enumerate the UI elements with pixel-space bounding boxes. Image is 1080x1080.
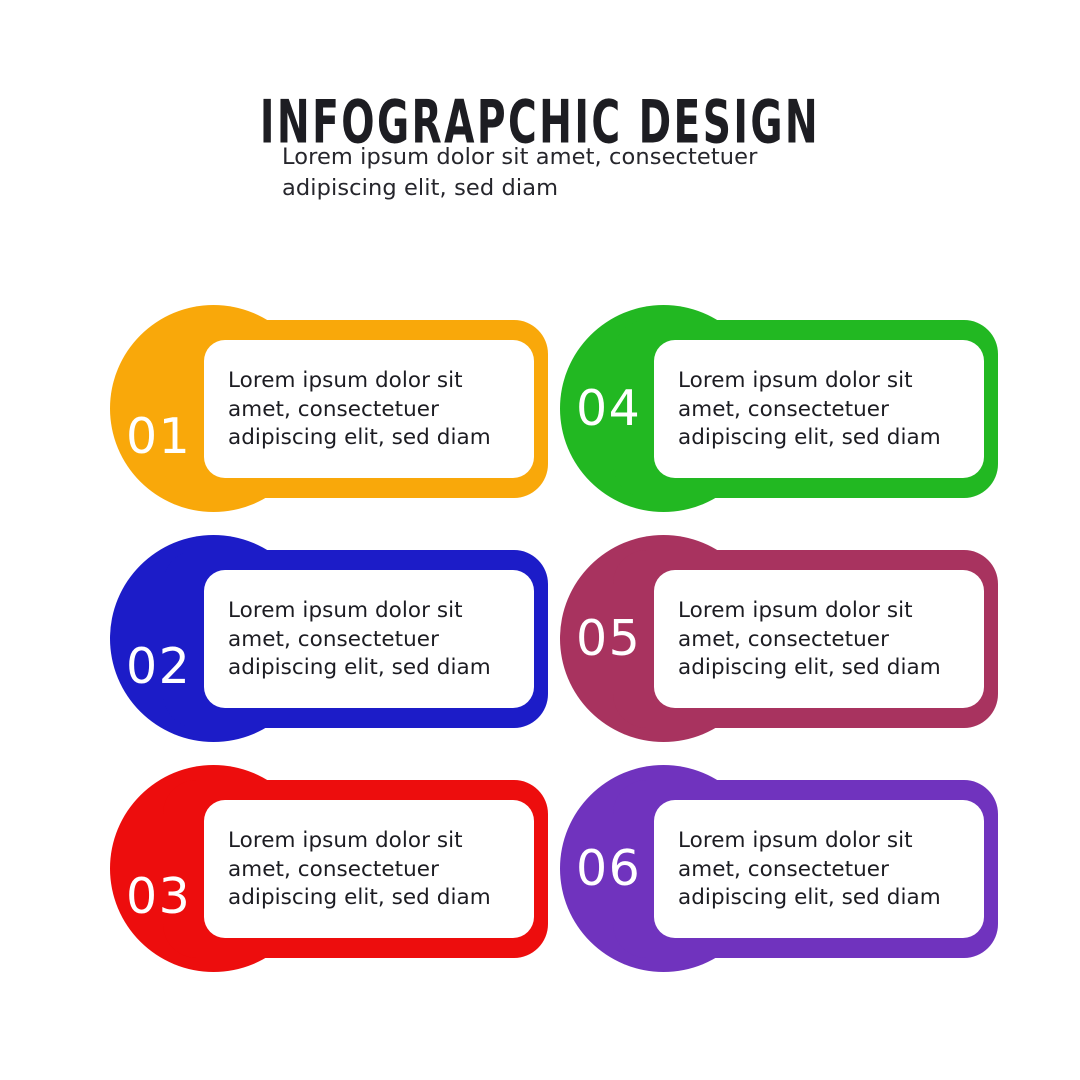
infographic-card-01[interactable]: Lorem ipsum dolor sit amet, consectetuer… [103, 295, 553, 525]
card-body-text: Lorem ipsum dolor sit amet, consectetuer… [228, 597, 518, 683]
card-number-label: 03 [126, 872, 236, 921]
card-number-label: 05 [576, 614, 686, 663]
card-number-label: 06 [576, 844, 686, 893]
infographic-card-grid: Lorem ipsum dolor sit amet, consectetuer… [0, 0, 1080, 1080]
card-body-text: Lorem ipsum dolor sit amet, consectetuer… [678, 597, 968, 683]
card-number-label: 01 [126, 412, 236, 461]
card-white-panel: Lorem ipsum dolor sit amet, consectetuer… [654, 570, 984, 708]
infographic-card-03[interactable]: Lorem ipsum dolor sit amet, consectetuer… [103, 755, 553, 985]
infographic-card-02[interactable]: Lorem ipsum dolor sit amet, consectetuer… [103, 525, 553, 755]
card-body-text: Lorem ipsum dolor sit amet, consectetuer… [228, 367, 518, 453]
card-number-label: 04 [576, 384, 686, 433]
card-body-text: Lorem ipsum dolor sit amet, consectetuer… [678, 827, 968, 913]
card-number-label: 02 [126, 642, 236, 691]
card-white-panel: Lorem ipsum dolor sit amet, consectetuer… [654, 340, 984, 478]
card-body-text: Lorem ipsum dolor sit amet, consectetuer… [228, 827, 518, 913]
infographic-card-05[interactable]: Lorem ipsum dolor sit amet, consectetuer… [553, 525, 1003, 755]
card-white-panel: Lorem ipsum dolor sit amet, consectetuer… [204, 800, 534, 938]
card-white-panel: Lorem ipsum dolor sit amet, consectetuer… [204, 340, 534, 478]
infographic-card-04[interactable]: Lorem ipsum dolor sit amet, consectetuer… [553, 295, 1003, 525]
card-white-panel: Lorem ipsum dolor sit amet, consectetuer… [654, 800, 984, 938]
card-white-panel: Lorem ipsum dolor sit amet, consectetuer… [204, 570, 534, 708]
card-body-text: Lorem ipsum dolor sit amet, consectetuer… [678, 367, 968, 453]
infographic-card-06[interactable]: Lorem ipsum dolor sit amet, consectetuer… [553, 755, 1003, 985]
